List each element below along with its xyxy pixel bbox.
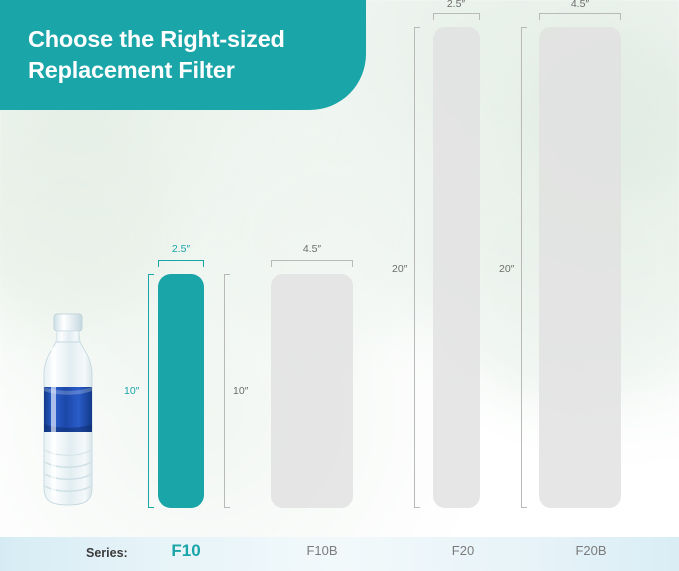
series-name-f20b[interactable]: F20B — [575, 543, 606, 558]
filter-f20-width-label: 2.5″ — [447, 0, 465, 10]
series-row: Series: F10 F10B F20 F20B — [0, 537, 679, 571]
filter-f10b-height-marker — [224, 274, 230, 508]
filter-f20-body — [433, 27, 480, 508]
filter-f20b-width-marker — [539, 13, 621, 20]
filter-f20[interactable] — [433, 27, 480, 508]
page-title: Choose the Right-sized Replacement Filte… — [28, 24, 336, 87]
filter-f10-width-marker — [158, 260, 204, 267]
filter-f10b[interactable] — [271, 274, 353, 508]
water-bottle-illustration — [32, 312, 104, 508]
filter-f20b-width-label: 4.5″ — [571, 0, 589, 10]
filter-f10b-width-label: 4.5″ — [303, 243, 321, 255]
filter-f10-body — [158, 274, 204, 508]
filter-f10-height-marker — [148, 274, 154, 508]
filter-f10[interactable] — [158, 274, 204, 508]
filter-f20-height-marker — [414, 27, 420, 508]
filter-f10-height-label: 10″ — [124, 385, 139, 397]
series-name-f20[interactable]: F20 — [452, 543, 474, 558]
filter-f20-height-label: 20″ — [392, 263, 407, 275]
header-banner: Choose the Right-sized Replacement Filte… — [0, 0, 366, 110]
filter-f20-width-marker — [433, 13, 480, 20]
series-label: Series: — [86, 546, 128, 560]
filter-f10b-body — [271, 274, 353, 508]
infographic-root: Choose the Right-sized Replacement Filte… — [0, 0, 679, 571]
filter-f20b-height-marker — [521, 27, 527, 508]
filter-f10b-width-marker — [271, 260, 353, 267]
series-name-f10[interactable]: F10 — [171, 541, 200, 561]
filter-f20b[interactable] — [539, 27, 621, 508]
filter-f10b-height-label: 10″ — [233, 385, 248, 397]
filter-f10-width-label: 2.5″ — [172, 243, 190, 255]
filter-f20b-body — [539, 27, 621, 508]
series-name-f10b[interactable]: F10B — [306, 543, 337, 558]
filter-f20b-height-label: 20″ — [499, 263, 514, 275]
